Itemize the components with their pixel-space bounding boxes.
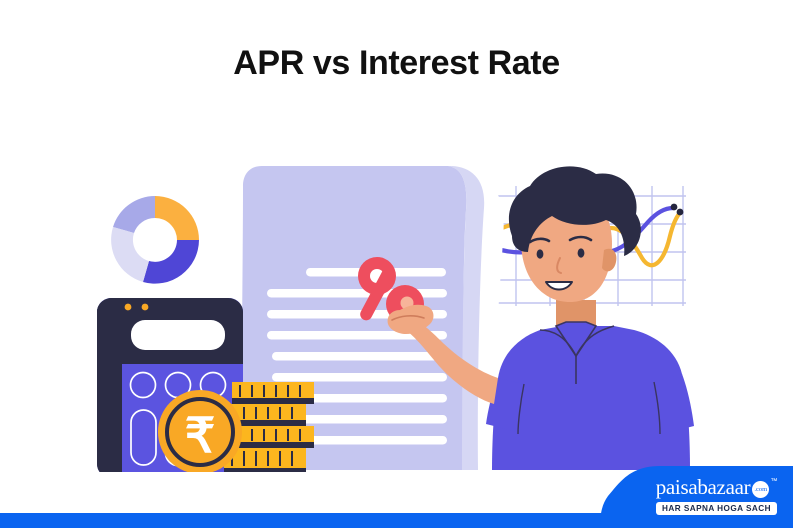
brand-wordmark: paisabazaar .com ™ [644, 477, 789, 498]
brand-dotcom-badge: .com [752, 481, 769, 498]
curve-marker-amber [677, 209, 684, 216]
donut-chart-icon [111, 196, 199, 284]
calculator-display [131, 320, 225, 350]
brand-logo[interactable]: paisabazaar .com ™ HAR SAPNA HOGA SACH [600, 466, 793, 528]
image-canvas: APR vs Interest Rate [0, 0, 793, 528]
rupee-coin-icon: ₹ [158, 390, 242, 474]
brand-inner: paisabazaar .com ™ HAR SAPNA HOGA SACH [644, 477, 789, 516]
calculator-light-1 [125, 304, 132, 311]
brand-tagline: HAR SAPNA HOGA SACH [656, 502, 777, 515]
brand-name-text: paisabazaar [656, 477, 751, 498]
brand-trademark: ™ [770, 478, 777, 485]
curve-marker-indigo [671, 204, 678, 211]
calculator-light-2 [142, 304, 149, 311]
illustration-stage: ₹ [0, 0, 793, 528]
svg-text:₹: ₹ [185, 410, 216, 463]
